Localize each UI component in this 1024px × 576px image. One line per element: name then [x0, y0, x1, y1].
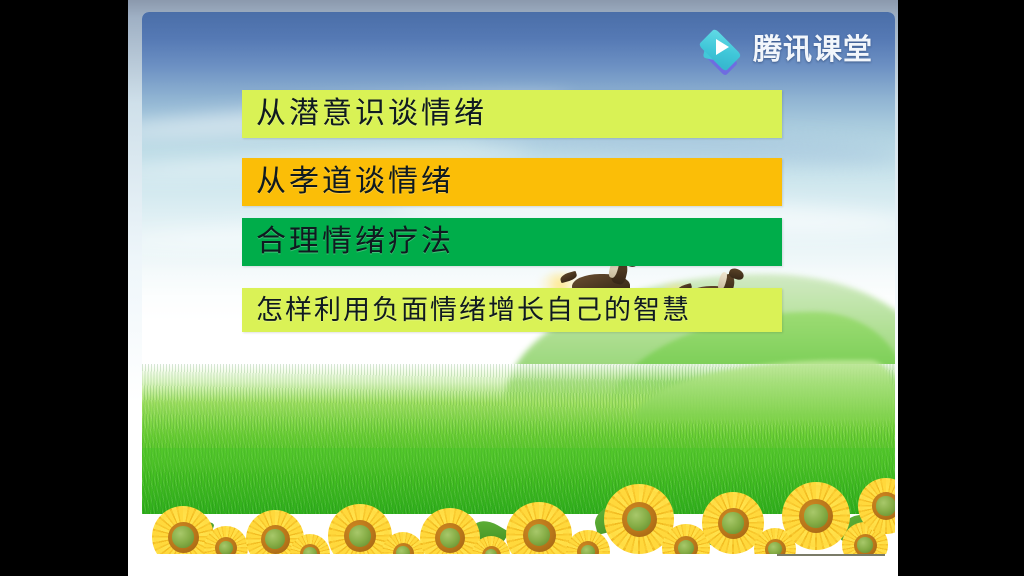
agenda-banner-1: 从潜意识谈情绪	[242, 90, 782, 138]
sunflower-core	[804, 504, 827, 527]
slide-bottom-margin	[142, 554, 895, 576]
agenda-banner-3: 合理情绪疗法	[242, 218, 782, 266]
agenda-banner-2-text: 从孝道谈情绪	[256, 167, 454, 197]
band-fade	[142, 448, 895, 474]
video-player-stage: 腾讯课堂 从潜意识谈情绪 从孝道谈情绪 合理情绪疗法 怎样利用负面情绪增长自己的…	[0, 0, 1024, 576]
presentation-slide: 腾讯课堂 从潜意识谈情绪 从孝道谈情绪 合理情绪疗法 怎样利用负面情绪增长自己的…	[142, 12, 895, 576]
agenda-banner-3-text: 合理情绪疗法	[256, 227, 454, 257]
sunflower-core	[265, 529, 285, 549]
agenda-banner-2: 从孝道谈情绪	[242, 158, 782, 206]
play-diamond-icon	[699, 27, 743, 67]
brand-watermark: 腾讯课堂	[699, 26, 873, 68]
sunflower	[420, 508, 480, 560]
sunflower	[506, 502, 572, 560]
player-frame: 腾讯课堂 从潜意识谈情绪 从孝道谈情绪 合理情绪疗法 怎样利用负面情绪增长自己的…	[128, 0, 898, 576]
sunflower-core	[172, 526, 193, 547]
sunflower	[782, 482, 850, 550]
agenda-banner-1-text: 从潜意识谈情绪	[256, 99, 487, 129]
agenda-banner-4-text: 怎样利用负面情绪增长自己的智慧	[256, 297, 691, 324]
sunflower-border	[142, 448, 895, 560]
sunflower-core	[857, 537, 873, 553]
sunflower-core	[349, 525, 371, 547]
slide-bottom-rule	[777, 554, 885, 556]
sunflower-core	[627, 507, 651, 531]
agenda-banner-4: 怎样利用负面情绪增长自己的智慧	[242, 288, 782, 332]
sunflower-core	[722, 512, 743, 533]
sunflower-core	[876, 496, 895, 515]
play-triangle-icon	[716, 39, 729, 55]
brand-name: 腾讯课堂	[753, 26, 873, 68]
